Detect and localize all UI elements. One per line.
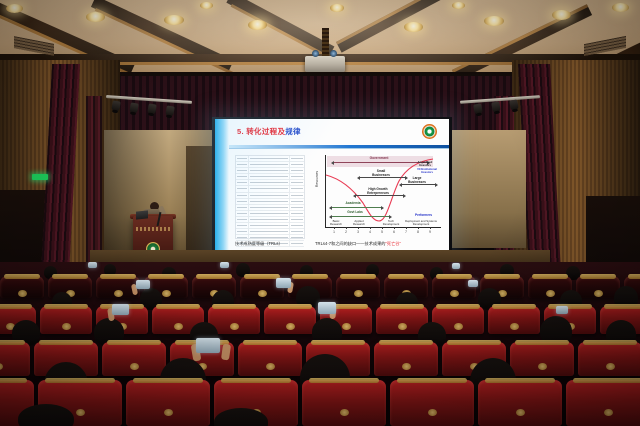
recessed-light (404, 22, 423, 32)
recessed-light (330, 4, 344, 12)
projector-mount-pole (322, 28, 329, 58)
audience-tablet-screen (136, 280, 150, 289)
audience-tablet-screen (112, 304, 129, 315)
audience-tablet-screen (196, 338, 220, 353)
actor-bar-label: LargeBusinesses (408, 177, 426, 184)
ceiling-projector (305, 56, 345, 72)
recessed-light (200, 2, 213, 9)
theater-seat[interactable] (390, 380, 474, 426)
stage-label-tech-development: TechDevelopment (383, 220, 399, 226)
actor-bar-label: High GrowthEntrepreneurs (367, 188, 389, 195)
theater-seat[interactable] (488, 306, 540, 334)
slide-title-number: 5. (237, 127, 244, 136)
audience-tablet-screen (276, 278, 291, 288)
actor-bar-label: Government (370, 157, 389, 161)
stage-spotlight (473, 103, 483, 114)
audience-phone-screen (452, 263, 460, 269)
recessed-light (612, 3, 629, 12)
actor-bar-label: Govt Labs (347, 211, 363, 215)
institution-logo-icon (422, 124, 437, 139)
audience-person-foreground (18, 404, 74, 426)
annotation-performers: Performers (415, 213, 432, 217)
theater-seat[interactable] (264, 306, 316, 334)
annotation-angel-investors: Angel/SeedInvestors (418, 161, 433, 167)
stage-back-wall-right (452, 130, 526, 248)
slide-right-caption: TRLs4-7和之间的缺口——技术成果的“死亡谷” (315, 241, 401, 247)
projector-lens (312, 50, 319, 57)
slide-title: 5. 转化过程及规律 (237, 126, 301, 137)
actor-bar-label: SmallBusinesses (372, 170, 390, 177)
theater-seat[interactable] (0, 276, 44, 298)
presentation-slide: 5. 转化过程及规律 Resources (215, 119, 449, 253)
left-inner-curtain (86, 96, 102, 276)
recessed-light (86, 12, 105, 22)
audience-phone-screen (468, 280, 478, 287)
slide-divider-rule-thin (229, 148, 449, 149)
theater-seat[interactable] (336, 276, 380, 298)
theater-seat[interactable] (578, 342, 640, 376)
recessed-light (164, 15, 184, 25)
stage-label-deployment: Deployment and SystemsDevelopment (405, 220, 437, 226)
lectern-nameplate (136, 227, 170, 231)
theater-seat[interactable] (126, 380, 210, 426)
theater-seat[interactable] (102, 342, 166, 376)
slide-left-caption: 技术成熟度等级（TRLs） (235, 241, 283, 247)
audience-tablet-screen (318, 302, 336, 314)
annotation-vc-investors: VC/InstitutionalInvestors (417, 168, 437, 174)
slide-accent-edge (215, 119, 229, 253)
actor-bar-label: Academia (345, 202, 360, 206)
recessed-light (6, 4, 23, 13)
recessed-light (484, 16, 504, 26)
actor-bar-govt-labs (331, 216, 389, 217)
auditorium-photo: 5. 转化过程及规律 Resources (0, 0, 640, 426)
slide-right-caption-text: TRLs4-7和之间的缺口——技术成果的 (315, 241, 386, 246)
audience-phone-screen (220, 262, 229, 268)
audience-phone-screen (556, 306, 568, 314)
theater-seat[interactable] (478, 380, 562, 426)
audience-area (0, 262, 640, 426)
theater-seat[interactable] (566, 380, 640, 426)
projector-lens (330, 50, 337, 57)
stage-label-basic-research: BasicResearch (330, 220, 342, 226)
theater-seat[interactable] (40, 306, 92, 334)
actor-bar-government (333, 162, 427, 163)
trl-table (235, 155, 305, 239)
theater-seat[interactable] (0, 342, 30, 376)
stage-spotlight (509, 99, 519, 110)
theater-seat[interactable] (510, 342, 574, 376)
stage-spotlight (491, 101, 501, 112)
audience-phone-screen (88, 262, 97, 268)
slide-title-blue: 规律 (285, 127, 301, 136)
stage-label-applied-research: AppliedResearch (353, 220, 365, 226)
slide-right-caption-highlight: “死亡谷” (386, 241, 401, 246)
theater-seat[interactable] (302, 380, 386, 426)
exit-sign-icon (32, 174, 48, 180)
theater-seat[interactable] (374, 342, 438, 376)
actor-bar-academia (331, 207, 381, 208)
recessed-light (248, 20, 267, 30)
slide-title-red: 转化过程及 (244, 127, 285, 136)
theater-seat[interactable] (238, 342, 302, 376)
valley-of-death-chart: Resources Government SmallBusinesses Lar… (311, 153, 443, 237)
recessed-light (452, 2, 465, 9)
recessed-light (552, 10, 571, 20)
lectern-laptop (136, 210, 148, 219)
